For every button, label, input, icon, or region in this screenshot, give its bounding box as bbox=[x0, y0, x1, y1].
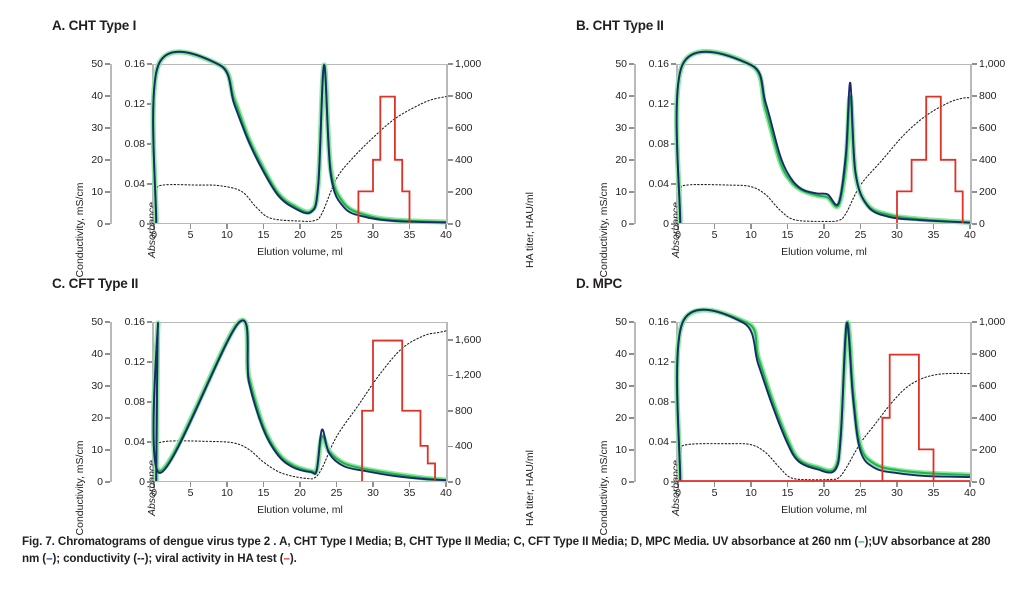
conductivity-axis-tick-label: 30 bbox=[572, 381, 627, 392]
absorbance-axis-tick-label: 0.16 bbox=[614, 317, 669, 328]
absorbance-axis-tick-label: 0.08 bbox=[90, 397, 145, 408]
conductivity-axis-tick-label: 30 bbox=[48, 381, 103, 392]
x-axis-tick-label: 20 bbox=[294, 230, 306, 241]
x-axis-tick-label: 5 bbox=[712, 230, 718, 241]
ha-titer-axis-tick bbox=[972, 95, 977, 97]
absorbance-260nm-trace bbox=[153, 52, 446, 223]
conductivity-axis-tick bbox=[629, 449, 634, 451]
absorbance-axis-tick-label: 0.12 bbox=[614, 357, 669, 368]
ha-titer-axis-tick bbox=[448, 375, 453, 377]
axis-title-elution-volume: Elution volume, ml bbox=[678, 504, 970, 516]
ha-titer-axis-tick-label: 800 bbox=[979, 349, 997, 360]
axis-title-ha-titer: HA titer, HAU/ml bbox=[524, 150, 536, 310]
ha-titer-axis-tick bbox=[972, 223, 977, 225]
ha-titer-axis-tick bbox=[448, 159, 453, 161]
x-axis-tick-label: 5 bbox=[188, 230, 194, 241]
ha-titer-axis-tick bbox=[448, 191, 453, 193]
plot-area-b bbox=[678, 64, 970, 224]
x-axis-tick-label: 35 bbox=[928, 230, 940, 241]
chart-panel-b: B. CHT Type II0102030405000.040.080.120.… bbox=[570, 18, 1024, 268]
ha-titer-axis-tick-label: 0 bbox=[455, 477, 461, 488]
ha-titer-axis-tick bbox=[448, 223, 453, 225]
ha-titer-step-trace bbox=[882, 355, 933, 481]
ha-titer-axis-tick bbox=[972, 417, 977, 419]
conductivity-axis-tick-label: 30 bbox=[48, 123, 103, 134]
x-axis-tick-label: 15 bbox=[782, 488, 794, 499]
absorbance-axis-tick-label: 0.16 bbox=[90, 317, 145, 328]
x-axis-tick-label: 5 bbox=[712, 488, 718, 499]
conductivity-axis-tick bbox=[629, 127, 634, 129]
ha-titer-axis-tick-label: 400 bbox=[979, 155, 997, 166]
chart-panel-c: C. CFT Type II0102030405000.040.080.120.… bbox=[46, 276, 524, 526]
ha-titer-axis-tick bbox=[448, 410, 453, 412]
conductivity-axis-tick bbox=[105, 95, 110, 97]
axis-title-elution-volume: Elution volume, ml bbox=[154, 504, 446, 516]
chart-panel-a: A. CHT Type I0102030405000.040.080.120.1… bbox=[46, 18, 524, 268]
x-axis-tick-label: 15 bbox=[782, 230, 794, 241]
x-axis-tick-label: 40 bbox=[440, 230, 452, 241]
ha-titer-axis-tick-label: 600 bbox=[979, 381, 997, 392]
absorbance-axis-tick-label: 0.04 bbox=[90, 179, 145, 190]
ha-titer-axis-tick-label: 400 bbox=[455, 441, 473, 452]
ha-titer-axis-tick-label: 400 bbox=[455, 155, 473, 166]
absorbance-axis-tick bbox=[671, 321, 676, 323]
plot-area-c bbox=[154, 322, 446, 482]
absorbance-axis-tick-label: 0.08 bbox=[614, 397, 669, 408]
ha-titer-step-trace bbox=[358, 97, 409, 223]
ha-titer-axis-tick-label: 200 bbox=[455, 187, 473, 198]
x-axis-tick-label: 20 bbox=[818, 488, 830, 499]
ha-titer-axis-tick-label: 1,000 bbox=[455, 59, 481, 70]
absorbance-axis-tick-label: 0.08 bbox=[90, 139, 145, 150]
ha-titer-axis-tick bbox=[448, 446, 453, 448]
x-axis-tick-label: 25 bbox=[331, 230, 343, 241]
x-axis-tick-label: 40 bbox=[964, 488, 976, 499]
ha-titer-step-trace bbox=[897, 97, 963, 223]
ha-titer-axis-tick-label: 1,600 bbox=[455, 335, 481, 346]
ha-titer-axis-tick-label: 600 bbox=[979, 123, 997, 134]
axis-title-elution-volume: Elution volume, ml bbox=[678, 246, 970, 258]
panel-title-b: B. CHT Type II bbox=[576, 18, 664, 33]
caption-close: ). bbox=[290, 552, 297, 565]
x-axis-tick-label: 10 bbox=[221, 488, 233, 499]
figure-7: A. CHT Type I0102030405000.040.080.120.1… bbox=[0, 0, 1024, 589]
ha-titer-axis-tick-label: 1,200 bbox=[455, 370, 481, 381]
conductivity-trace bbox=[678, 373, 970, 481]
absorbance-axis-tick-label: 0 bbox=[90, 477, 145, 488]
ha-titer-axis-tick bbox=[448, 95, 453, 97]
x-axis-tick-label: 20 bbox=[294, 488, 306, 499]
absorbance-260nm-halo bbox=[153, 52, 446, 223]
panel-title-a: A. CHT Type I bbox=[52, 18, 136, 33]
x-axis-tick-label: 40 bbox=[440, 488, 452, 499]
panel-title-d: D. MPC bbox=[576, 276, 622, 291]
x-axis-tick-label: 5 bbox=[188, 488, 194, 499]
conductivity-axis-tick bbox=[105, 417, 110, 419]
conductivity-axis-tick-label: 30 bbox=[572, 123, 627, 134]
figure-caption: Fig. 7. Chromatograms of dengue virus ty… bbox=[22, 534, 1002, 568]
absorbance-axis-tick-label: 0.16 bbox=[90, 59, 145, 70]
absorbance-axis-tick-label: 0 bbox=[614, 477, 669, 488]
ha-titer-axis-tick-label: 600 bbox=[455, 123, 473, 134]
y-axis-ha-titer bbox=[970, 64, 972, 224]
absorbance-axis-tick-label: 0 bbox=[614, 219, 669, 230]
conductivity-axis-tick bbox=[105, 353, 110, 355]
absorbance-axis-tick-label: 0.12 bbox=[90, 357, 145, 368]
ha-titer-axis-tick bbox=[448, 127, 453, 129]
ha-titer-axis-tick-label: 200 bbox=[979, 445, 997, 456]
plot-area-d bbox=[678, 322, 970, 482]
absorbance-axis-tick-label: 0.16 bbox=[614, 59, 669, 70]
ha-titer-axis-tick bbox=[972, 191, 977, 193]
conductivity-axis-tick bbox=[105, 449, 110, 451]
panel-title-c: C. CFT Type II bbox=[52, 276, 138, 291]
absorbance-axis-tick-label: 0 bbox=[90, 219, 145, 230]
ha-titer-axis-tick bbox=[972, 159, 977, 161]
conductivity-axis-tick bbox=[105, 127, 110, 129]
x-axis-tick-label: 35 bbox=[404, 488, 416, 499]
x-axis-tick-label: 35 bbox=[404, 230, 416, 241]
absorbance-axis-tick-label: 0.12 bbox=[90, 99, 145, 110]
ha-titer-axis-tick bbox=[972, 353, 977, 355]
absorbance-axis-tick bbox=[147, 321, 152, 323]
x-axis-tick-label: 25 bbox=[855, 488, 867, 499]
x-axis-tick-label: 15 bbox=[258, 230, 270, 241]
conductivity-axis-tick bbox=[629, 191, 634, 193]
conductivity-axis-tick bbox=[105, 385, 110, 387]
absorbance-260nm-halo bbox=[677, 310, 970, 481]
absorbance-axis-tick-label: 0.04 bbox=[90, 437, 145, 448]
conductivity-axis-tick bbox=[629, 159, 634, 161]
x-axis-tick-label: 25 bbox=[331, 488, 343, 499]
x-axis-tick-label: 10 bbox=[221, 230, 233, 241]
conductivity-axis-tick bbox=[629, 353, 634, 355]
absorbance-axis-tick-label: 0.08 bbox=[614, 139, 669, 150]
legend-dash-conductivity: -- bbox=[137, 552, 145, 565]
ha-titer-axis-tick-label: 1,000 bbox=[979, 317, 1005, 328]
absorbance-axis-tick bbox=[147, 401, 152, 403]
x-axis-tick-label: 20 bbox=[818, 230, 830, 241]
x-axis-tick-label: 35 bbox=[928, 488, 940, 499]
ha-titer-axis-tick-label: 400 bbox=[979, 413, 997, 424]
ha-titer-axis-tick-label: 800 bbox=[455, 406, 473, 417]
ha-titer-step-trace bbox=[362, 341, 435, 481]
x-axis-tick-label: 30 bbox=[367, 488, 379, 499]
plot-area-a bbox=[154, 64, 446, 224]
absorbance-axis-tick-label: 0.04 bbox=[614, 437, 669, 448]
absorbance-260nm-trace bbox=[677, 310, 970, 481]
absorbance-axis-tick bbox=[671, 63, 676, 65]
absorbance-280nm-trace bbox=[677, 310, 970, 481]
x-axis-tick-label: 40 bbox=[964, 230, 976, 241]
absorbance-axis-tick-label: 0.04 bbox=[614, 179, 669, 190]
ha-titer-axis-tick-label: 1,000 bbox=[979, 59, 1005, 70]
ha-titer-axis-tick-label: 0 bbox=[979, 219, 985, 230]
ha-titer-axis-tick-label: 0 bbox=[979, 477, 985, 488]
ha-titer-axis-tick-label: 800 bbox=[455, 91, 473, 102]
conductivity-axis-tick bbox=[629, 95, 634, 97]
absorbance-280nm-trace bbox=[153, 52, 446, 223]
ha-titer-axis-tick bbox=[972, 449, 977, 451]
x-axis-tick-label: 15 bbox=[258, 488, 270, 499]
conductivity-axis-tick bbox=[105, 159, 110, 161]
ha-titer-axis-tick bbox=[972, 321, 977, 323]
caption-text-ha: ); viral activity in HA test ( bbox=[145, 552, 284, 565]
ha-titer-axis-tick-label: 0 bbox=[455, 219, 461, 230]
ha-titer-axis-tick bbox=[972, 127, 977, 129]
ha-titer-axis-tick bbox=[448, 339, 453, 341]
caption-text-line1: Fig. 7. Chromatograms of dengue virus ty… bbox=[22, 535, 851, 548]
x-axis-tick-label: 30 bbox=[891, 230, 903, 241]
x-axis-tick-label: 10 bbox=[745, 488, 757, 499]
absorbance-axis-tick bbox=[147, 63, 152, 65]
axis-title-elution-volume: Elution volume, ml bbox=[154, 246, 446, 258]
ha-titer-axis-tick bbox=[972, 385, 977, 387]
conductivity-axis-tick bbox=[629, 417, 634, 419]
x-axis-tick-label: 30 bbox=[891, 488, 903, 499]
chart-panel-d: D. MPC0102030405000.040.080.120.16020040… bbox=[570, 276, 1024, 526]
x-axis-tick-label: 30 bbox=[367, 230, 379, 241]
panel-grid: A. CHT Type I0102030405000.040.080.120.1… bbox=[0, 0, 1024, 525]
y-axis-ha-titer bbox=[446, 64, 448, 224]
y-axis-ha-titer bbox=[970, 322, 972, 482]
conductivity-axis-tick bbox=[105, 191, 110, 193]
absorbance-axis-tick-label: 0.12 bbox=[614, 99, 669, 110]
absorbance-axis-tick bbox=[147, 361, 152, 363]
caption-text-conductivity: ); conductivity ( bbox=[52, 552, 137, 565]
y-axis-ha-titer bbox=[446, 322, 448, 482]
ha-titer-axis-tick-label: 200 bbox=[979, 187, 997, 198]
conductivity-axis-tick bbox=[629, 385, 634, 387]
ha-titer-axis-tick bbox=[448, 481, 453, 483]
ha-titer-axis-tick bbox=[972, 63, 977, 65]
ha-titer-axis-tick-label: 800 bbox=[979, 91, 997, 102]
ha-titer-axis-tick bbox=[972, 481, 977, 483]
ha-titer-axis-tick bbox=[448, 63, 453, 65]
x-axis-tick-label: 10 bbox=[745, 230, 757, 241]
x-axis-tick-label: 25 bbox=[855, 230, 867, 241]
